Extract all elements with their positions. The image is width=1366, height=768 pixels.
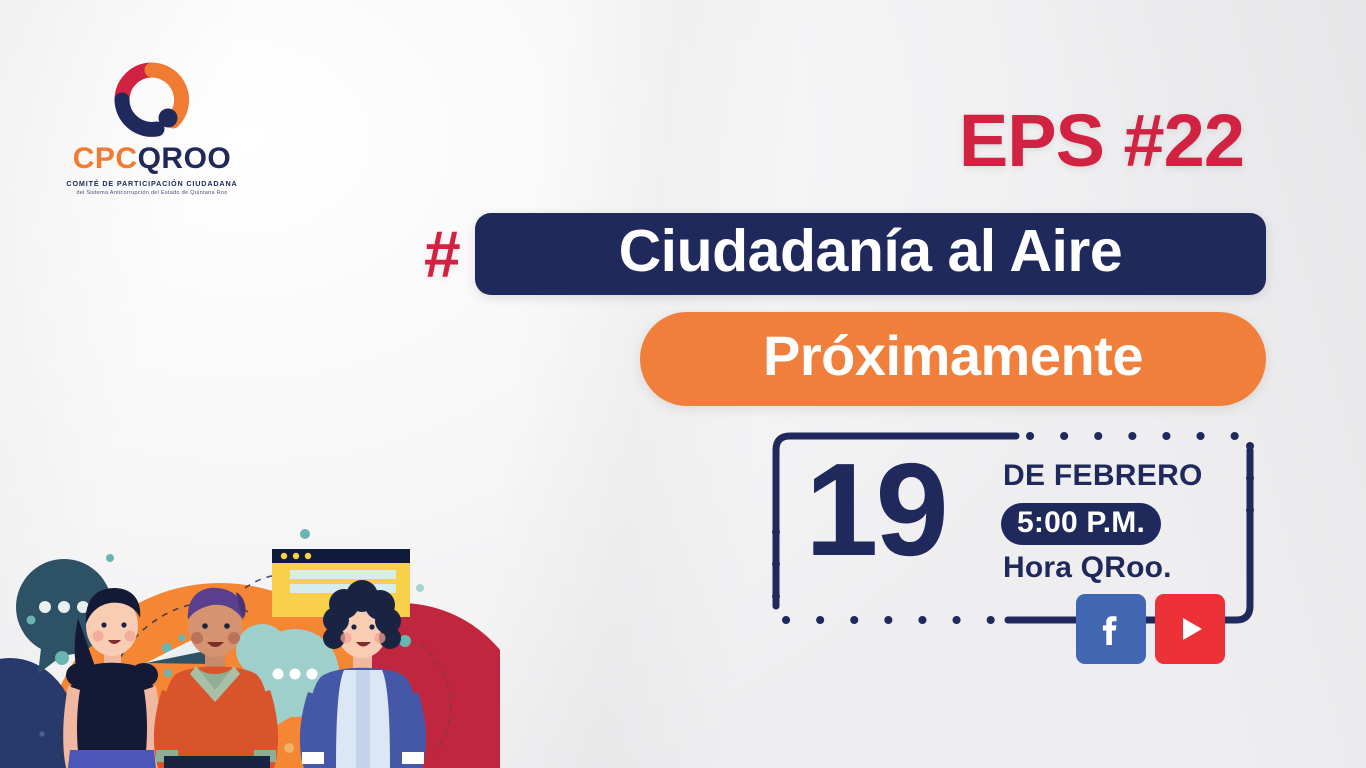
program-title-pill: Ciudadanía al Aire: [475, 213, 1266, 295]
logo-wordmark-cpc: CPC: [73, 142, 138, 175]
facebook-icon: [1091, 609, 1131, 649]
status-badge: Próximamente: [640, 312, 1266, 406]
cpc-logo: CPCQROO COMITÉ DE PARTICIPACIÓN CIUDADAN…: [52, 60, 252, 196]
logo-subtitle-secondary: del Sistema Anticorrupción del Estado de…: [52, 190, 252, 196]
status-badge-label: Próximamente: [763, 328, 1143, 390]
logo-wordmark-qroo: QROO: [138, 142, 232, 175]
event-time-pill: 5:00 P.M.: [1001, 503, 1161, 545]
logo-wordmark: CPCQROO: [52, 144, 252, 174]
hashtag-symbol: #: [424, 221, 461, 287]
promo-poster: CPCQROO COMITÉ DE PARTICIPACIÓN CIUDADAN…: [0, 0, 1366, 768]
youtube-link[interactable]: [1155, 594, 1225, 664]
event-time-text: 5:00 P.M.: [1017, 508, 1145, 540]
illustration-group: [0, 468, 500, 768]
episode-label: EPS #22: [959, 104, 1244, 178]
facebook-link[interactable]: [1076, 594, 1146, 664]
event-month: DE FEBRERO: [1003, 461, 1203, 491]
program-title-text: Ciudadanía al Aire: [619, 222, 1123, 286]
youtube-icon: [1170, 609, 1210, 649]
cpc-ring-logo-icon: [112, 60, 192, 140]
event-day: 19: [805, 444, 946, 576]
logo-subtitle-primary: COMITÉ DE PARTICIPACIÓN CIUDADANA: [52, 179, 252, 188]
social-links: [1076, 594, 1225, 664]
program-title-row: # Ciudadanía al Aire: [424, 213, 1266, 295]
event-timezone: Hora QRoo.: [1003, 553, 1172, 583]
